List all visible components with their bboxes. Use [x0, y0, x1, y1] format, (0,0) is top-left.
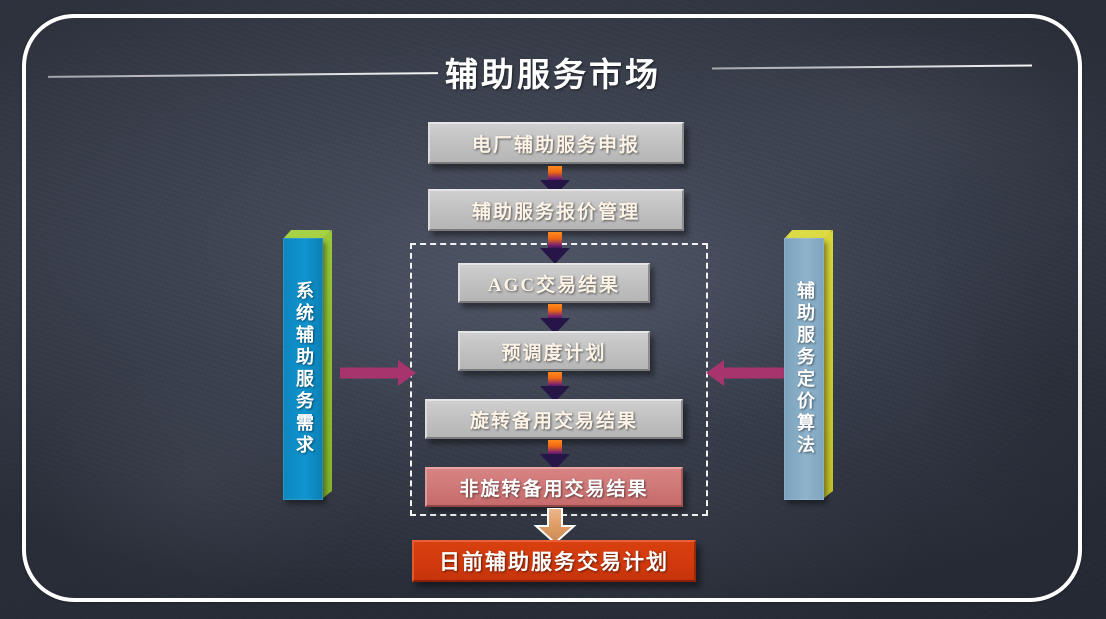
arrow-predispatch-to-spinning [538, 372, 572, 402]
box-pre-dispatch-plan[interactable]: 预调度计划 [458, 331, 650, 371]
box-label: 预调度计划 [501, 338, 606, 365]
banner-system-ancillary-demand[interactable]: 系统辅助服务需求 [283, 230, 332, 500]
arrow-quotation-to-agc [538, 232, 572, 264]
box-label: 辅助服务报价管理 [472, 197, 640, 224]
arrow-spinning-to-nonspinning [538, 440, 572, 470]
box-non-spinning-reserve-trade-result[interactable]: 非旋转备用交易结果 [425, 467, 683, 507]
arrow-demand-to-group [340, 360, 416, 386]
slide-title: 辅助服务市场 [0, 48, 1106, 96]
box-agc-trade-result[interactable]: AGC交易结果 [458, 263, 650, 303]
banner-label: 辅助服务定价算法 [784, 238, 824, 500]
arrow-agc-to-predispatch [538, 304, 572, 334]
banner-label: 系统辅助服务需求 [283, 238, 323, 500]
slide-canvas: 辅助服务市场 电厂辅助服务申报 辅助服务报价管理 AGC交易结果 预调度计划 旋… [0, 0, 1106, 619]
arrow-pricing-to-group [706, 360, 784, 386]
box-label: 日前辅助服务交易计划 [439, 546, 669, 576]
box-label: 旋转备用交易结果 [470, 406, 638, 433]
box-spinning-reserve-trade-result[interactable]: 旋转备用交易结果 [425, 399, 683, 439]
box-power-plant-declaration[interactable]: 电厂辅助服务申报 [428, 122, 684, 164]
banner-side-face [824, 230, 833, 498]
box-label: AGC交易结果 [488, 270, 620, 297]
box-ancillary-quotation-management[interactable]: 辅助服务报价管理 [428, 189, 684, 231]
banner-ancillary-pricing-algorithm[interactable]: 辅助服务定价算法 [784, 230, 833, 500]
box-label: 电厂辅助服务申报 [472, 130, 640, 157]
box-day-ahead-ancillary-trade-plan[interactable]: 日前辅助服务交易计划 [412, 540, 696, 582]
box-label: 非旋转备用交易结果 [459, 474, 648, 501]
banner-side-face [323, 230, 332, 498]
arrow-group-to-dayahead-plan [532, 508, 578, 544]
